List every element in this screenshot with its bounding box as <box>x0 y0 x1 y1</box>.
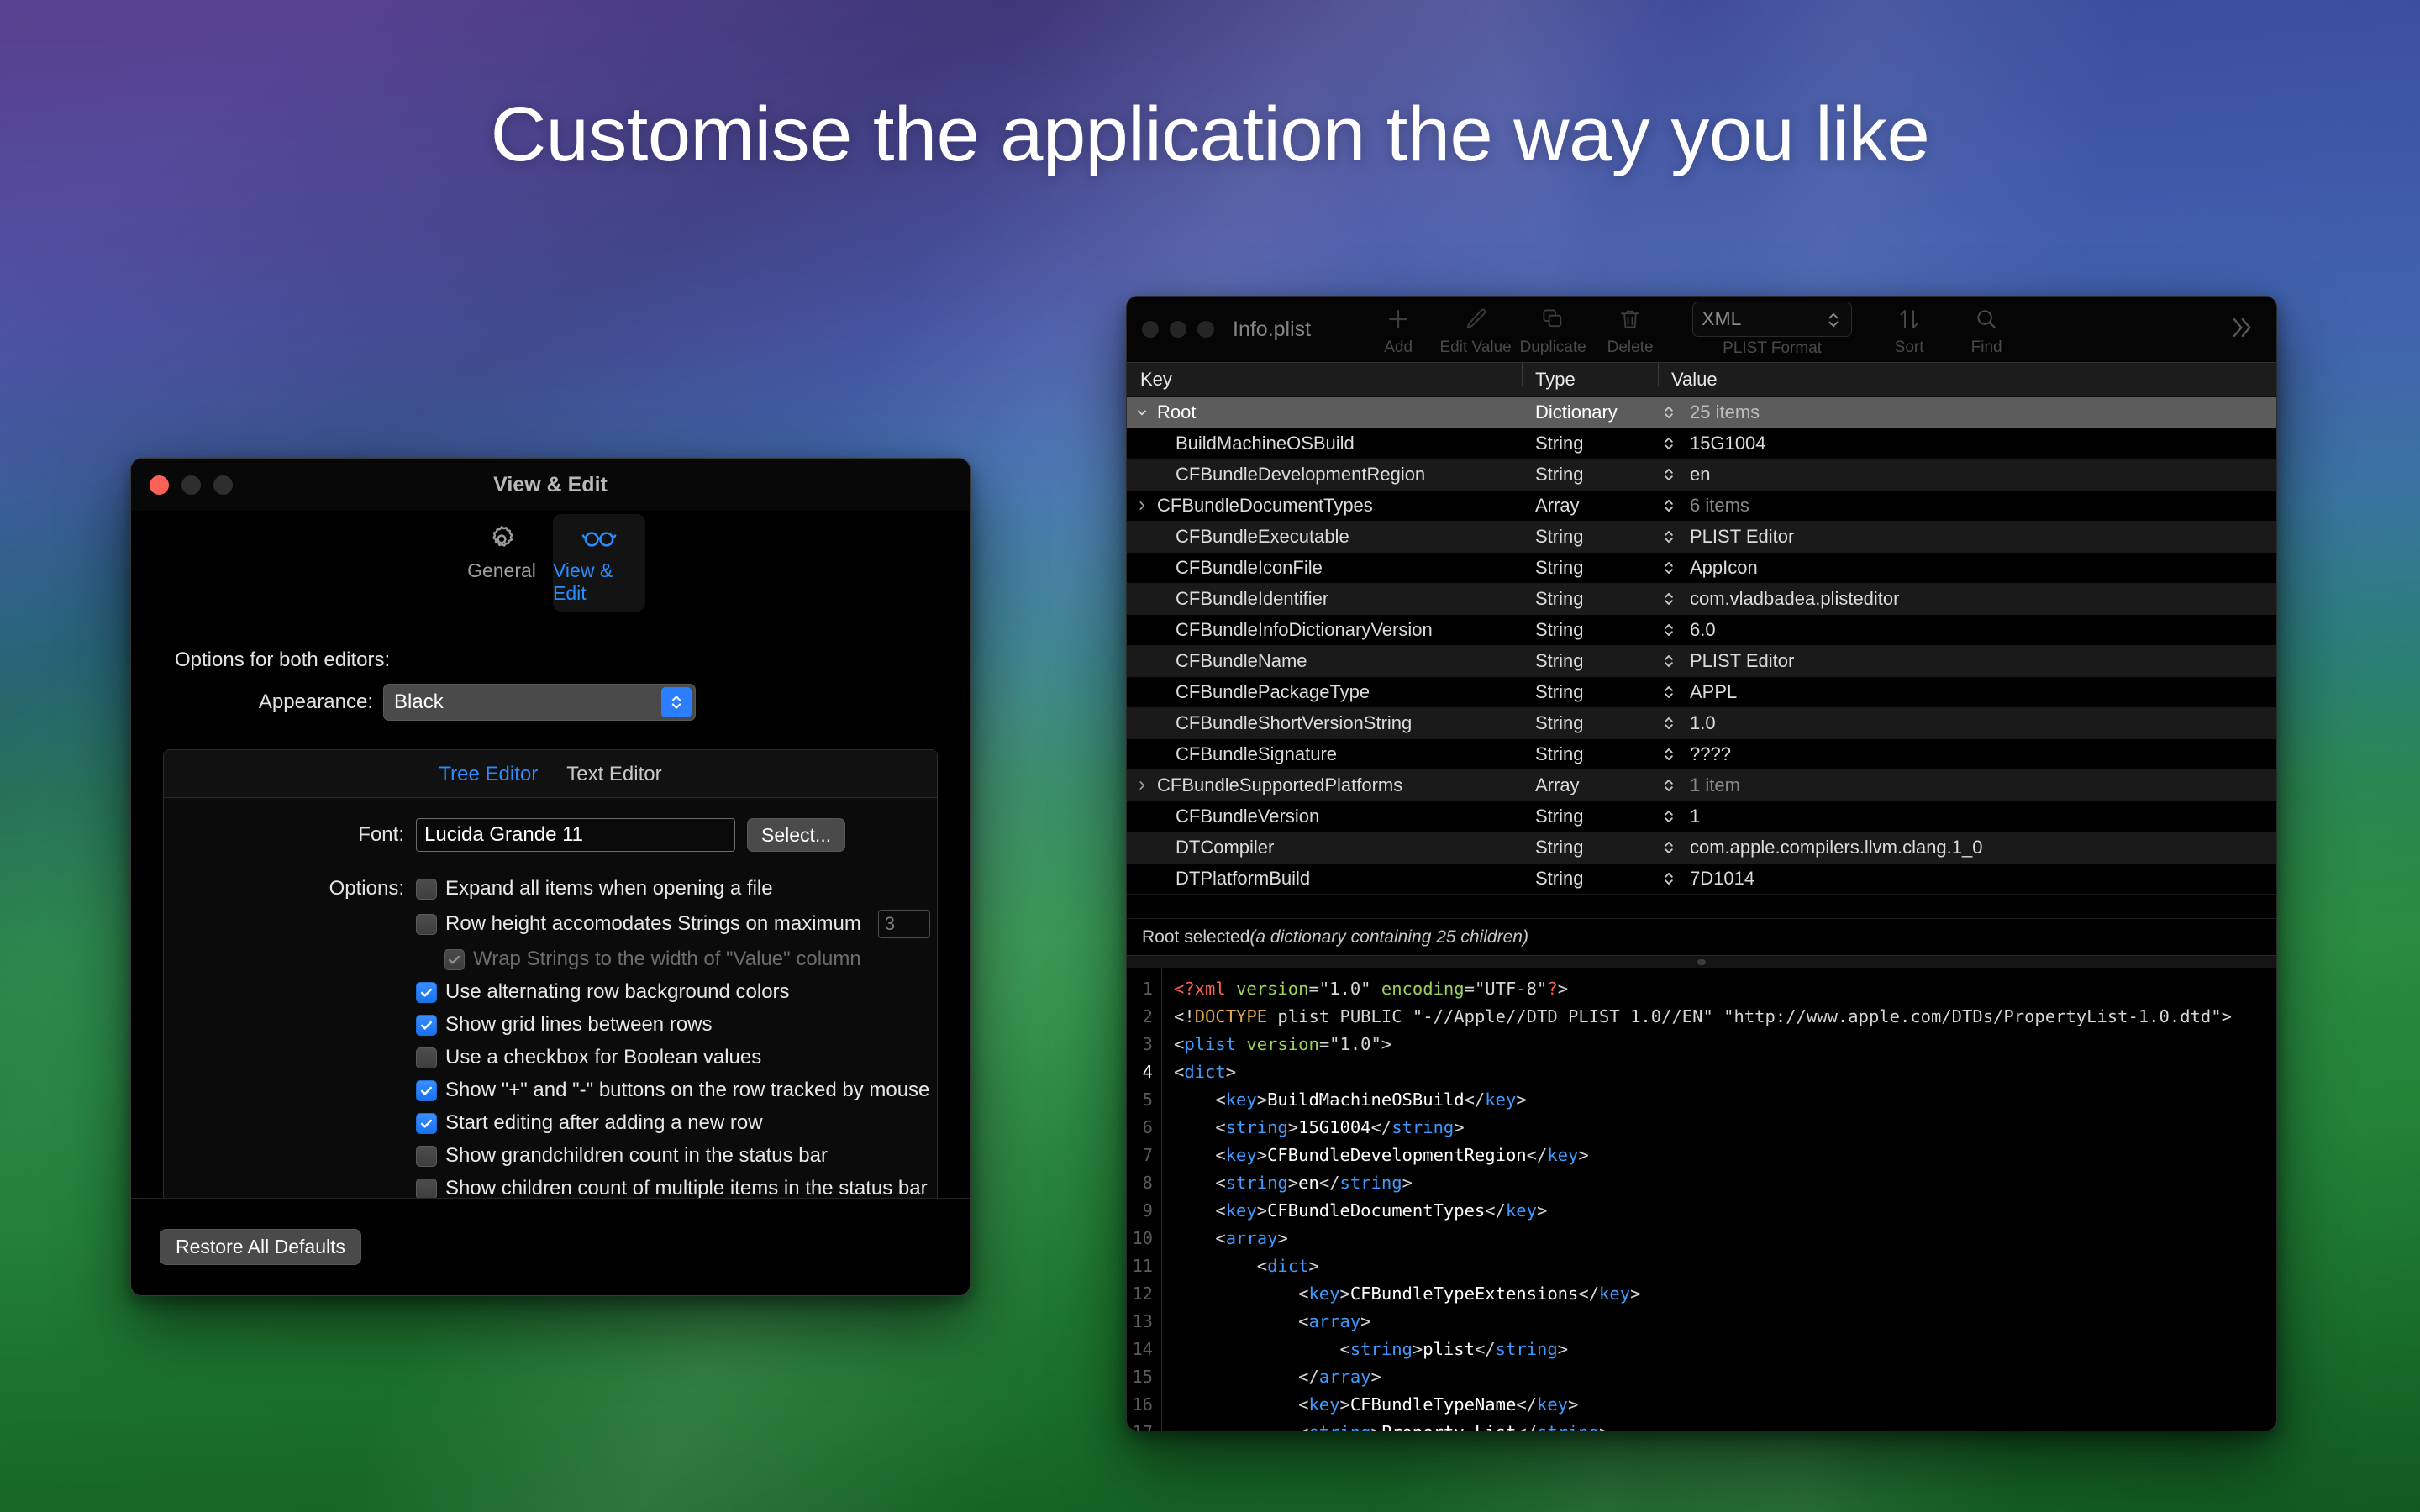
option-label: Use alternating row background colors <box>445 980 790 1004</box>
option-row: Show children count of multiple items in… <box>164 1177 937 1200</box>
options-checkbox-list: Options:Expand all items when opening a … <box>164 877 937 1200</box>
key-text: CFBundleIdentifier <box>1176 588 1328 610</box>
option-control[interactable]: Show grandchildren count in the status b… <box>416 1144 828 1168</box>
plus-icon <box>1384 302 1413 336</box>
font-field[interactable]: Lucida Grande 11 <box>416 818 735 852</box>
cell-value[interactable]: 1.0 <box>1680 712 2276 734</box>
key-text: CFBundleVersion <box>1176 806 1319 827</box>
line-number: 1 <box>1127 975 1153 1003</box>
code-token <box>1236 1034 1246 1054</box>
code-token: plist <box>1423 1339 1475 1359</box>
code-token: > <box>1558 979 1568 999</box>
line-number: 9 <box>1127 1197 1153 1225</box>
code-token: BuildMachineOSBuild <box>1267 1089 1465 1110</box>
cell-value[interactable]: APPL <box>1680 681 2276 703</box>
code-token: > <box>1516 1089 1526 1110</box>
key-text: CFBundlePackageType <box>1176 681 1370 703</box>
type-stepper-icon[interactable] <box>1658 559 1680 577</box>
max-lines-field[interactable]: 3 <box>878 910 930 938</box>
minimize-button[interactable] <box>1170 321 1186 338</box>
preferences-body: Options for both editors: Appearance: Bl… <box>131 628 970 1296</box>
column-header-key[interactable]: Key <box>1127 369 1522 391</box>
code-token <box>1174 1145 1215 1165</box>
checkbox-show-grandchildren-count-in-the-status-bar[interactable] <box>416 1146 437 1167</box>
checkbox-show-grid-lines-between-rows[interactable] <box>416 1015 437 1036</box>
option-label: Row height accomodates Strings on maximu… <box>445 912 861 936</box>
line-number: 8 <box>1127 1169 1153 1197</box>
cell-value[interactable]: 6.0 <box>1680 619 2276 641</box>
checkbox-row-height-accomodates-strings-on-maximum[interactable] <box>416 914 437 935</box>
section-title-options-both-editors: Options for both editors: <box>175 648 970 672</box>
line-number: 2 <box>1127 1003 1153 1031</box>
window-traffic-lights[interactable] <box>1142 321 1214 338</box>
search-icon <box>1974 302 1999 336</box>
code-token: string <box>1350 1339 1413 1359</box>
cell-type[interactable]: String <box>1522 526 1658 548</box>
checkbox-expand-all-items-when-opening-a-file[interactable] <box>416 879 437 900</box>
code-token: key <box>1226 1200 1257 1221</box>
code-token: "UTF-8" <box>1475 979 1547 999</box>
tab-text-editor[interactable]: Text Editor <box>566 763 661 786</box>
cell-key: DTPlatformBuild <box>1127 868 1522 890</box>
toolbar-label-add: Add <box>1384 339 1413 357</box>
cell-type[interactable]: String <box>1522 557 1658 579</box>
cell-value[interactable]: en <box>1680 464 2276 486</box>
code-token: Property List <box>1381 1422 1516 1431</box>
cell-value[interactable]: ???? <box>1680 743 2276 765</box>
code-token: < <box>1339 1339 1349 1359</box>
code-token: < <box>1298 1284 1308 1304</box>
type-stepper-icon[interactable] <box>1658 621 1680 639</box>
code-token: "1.0" <box>1329 1034 1381 1054</box>
line-number: 5 <box>1127 1086 1153 1114</box>
cell-type[interactable]: Array <box>1522 774 1658 796</box>
code-token: key <box>1599 1284 1630 1304</box>
code-token: string <box>1340 1173 1402 1193</box>
minimize-button[interactable] <box>181 475 201 495</box>
option-label: Show grid lines between rows <box>445 1013 713 1037</box>
table-row[interactable]: CFBundleShortVersionStringString1.0 <box>1127 708 2276 739</box>
key-text: BuildMachineOSBuild <box>1176 433 1355 454</box>
code-token: <?xml <box>1174 979 1226 999</box>
cell-key: BuildMachineOSBuild <box>1127 433 1522 454</box>
code-token: CFBundleTypeName <box>1350 1394 1516 1415</box>
options-label: Options: <box>164 877 416 900</box>
option-control[interactable]: Wrap Strings to the width of "Value" col… <box>444 948 861 971</box>
appearance-value: Black <box>394 690 444 714</box>
toolbar-button-delete[interactable]: Delete <box>1591 302 1669 357</box>
table-row[interactable]: BuildMachineOSBuildString15G1004 <box>1127 428 2276 459</box>
cell-type[interactable]: String <box>1522 806 1658 827</box>
xml-source-editor[interactable]: 1234567891011121314151617 <?xml version=… <box>1127 969 2276 1431</box>
appearance-select[interactable]: Black <box>383 684 696 721</box>
code-token: </ <box>1485 1200 1506 1221</box>
type-stepper-icon[interactable] <box>1658 434 1680 453</box>
desktop-wallpaper: Customise the application the way you li… <box>0 0 2420 1512</box>
column-header-type[interactable]: Type <box>1522 369 1658 391</box>
key-text: CFBundleName <box>1176 650 1307 672</box>
code-token: < <box>1215 1200 1225 1221</box>
cell-key: CFBundleDocumentTypes <box>1127 495 1522 517</box>
code-line: <string>plist</string> <box>1174 1336 2276 1363</box>
window-traffic-lights[interactable] <box>150 475 233 495</box>
type-stepper-icon[interactable] <box>1658 838 1680 857</box>
code-token: key <box>1485 1089 1516 1110</box>
code-token: < <box>1215 1089 1225 1110</box>
toolbar-button-add[interactable]: Add <box>1360 302 1437 357</box>
cell-type[interactable]: String <box>1522 464 1658 486</box>
tab-general[interactable]: General <box>455 514 548 589</box>
code-token: dict <box>1267 1256 1308 1276</box>
cell-key: CFBundleInfoDictionaryVersion <box>1127 619 1522 641</box>
cell-type[interactable]: String <box>1522 681 1658 703</box>
option-control[interactable]: Expand all items when opening a file <box>416 877 773 900</box>
line-number: 13 <box>1127 1308 1153 1336</box>
line-number: 3 <box>1127 1031 1153 1058</box>
toolbar-label-find: Find <box>1971 339 2002 357</box>
code-token: </ <box>1465 1089 1486 1110</box>
select-font-button[interactable]: Select... <box>747 818 845 852</box>
code-token: array <box>1319 1367 1371 1387</box>
table-row[interactable]: DTCompilerStringcom.apple.compilers.llvm… <box>1127 832 2276 864</box>
code-token: </ <box>1516 1422 1537 1431</box>
option-control[interactable]: Start editing after adding a new row <box>416 1111 763 1135</box>
editor-tab-bar: Tree Editor Text Editor <box>164 750 937 798</box>
cell-key: CFBundleName <box>1127 650 1522 672</box>
type-stepper-icon[interactable] <box>1658 714 1680 732</box>
type-stepper-icon[interactable] <box>1658 745 1680 764</box>
plist-format-group: XML PLIST Format <box>1692 302 1852 358</box>
code-line: <key>CFBundleDevelopmentRegion</key> <box>1174 1142 2276 1169</box>
option-control[interactable]: Show children count of multiple items in… <box>416 1177 928 1200</box>
code-token: > <box>1381 1034 1391 1054</box>
cell-type[interactable]: Array <box>1522 495 1658 517</box>
option-row: Show grid lines between rows <box>164 1013 937 1037</box>
checkbox-start-editing-after-adding-a-new-row[interactable] <box>416 1113 437 1134</box>
preferences-title: View & Edit <box>131 473 970 497</box>
cell-type[interactable]: String <box>1522 619 1658 641</box>
cell-key: CFBundleSignature <box>1127 743 1522 765</box>
maximize-button[interactable] <box>1197 321 1214 338</box>
code-line: <dict> <box>1174 1252 2276 1280</box>
code-token: < <box>1215 1117 1225 1137</box>
code-token: > <box>1288 1117 1298 1137</box>
type-stepper-icon[interactable] <box>1658 465 1680 484</box>
toolbar-button-sort[interactable]: Sort <box>1870 302 1948 357</box>
code-token: < <box>1215 1173 1225 1193</box>
code-token: string <box>1537 1422 1599 1431</box>
code-token: string <box>1308 1422 1370 1431</box>
cell-value[interactable]: AppIcon <box>1680 557 2276 579</box>
code-token: encoding <box>1381 979 1465 999</box>
table-row[interactable]: CFBundleIdentifierStringcom.vladbadea.pl… <box>1127 584 2276 615</box>
option-row: Use alternating row background colors <box>164 980 937 1004</box>
code-token: > <box>1371 1367 1381 1387</box>
option-control[interactable]: Show grid lines between rows <box>416 1013 713 1037</box>
cell-type[interactable]: String <box>1522 588 1658 610</box>
code-token: > <box>1537 1200 1547 1221</box>
chevron-down-icon[interactable] <box>1134 407 1150 418</box>
window-filename: Info.plist <box>1233 318 1311 342</box>
option-control[interactable]: Use alternating row background colors <box>416 980 790 1004</box>
code-token: array <box>1308 1311 1360 1331</box>
table-row[interactable]: CFBundleInfoDictionaryVersionString6.0 <box>1127 615 2276 646</box>
type-stepper-icon[interactable] <box>1658 590 1680 608</box>
code-token: > <box>1257 1089 1267 1110</box>
table-row[interactable]: CFBundleDevelopmentRegionStringen <box>1127 459 2276 491</box>
code-token: < <box>1298 1394 1308 1415</box>
cell-key: CFBundleVersion <box>1127 806 1522 827</box>
cell-key: CFBundleIdentifier <box>1127 588 1522 610</box>
type-stepper-icon[interactable] <box>1658 528 1680 546</box>
line-number: 4 <box>1127 1058 1153 1086</box>
code-token: < <box>1215 1228 1225 1248</box>
type-stepper-icon[interactable] <box>1658 683 1680 701</box>
toolbar-label-delete: Delete <box>1607 339 1654 357</box>
code-token <box>1226 979 1236 999</box>
cell-value[interactable]: com.vladbadea.plisteditor <box>1680 588 2276 610</box>
checkbox-use-a-checkbox-for-boolean-values[interactable] <box>416 1047 437 1068</box>
code-token: ? <box>1547 979 1557 999</box>
font-row: Font: Lucida Grande 11 Select... <box>164 818 937 852</box>
table-row[interactable]: DTPlatformBuildString7D1014 <box>1127 864 2276 895</box>
code-token: = <box>1319 1034 1329 1054</box>
table-row[interactable]: CFBundleSignatureString???? <box>1127 739 2276 770</box>
maximize-button[interactable] <box>213 475 233 495</box>
tab-tree-editor[interactable]: Tree Editor <box>439 763 538 786</box>
code-token: CFBundleDevelopmentRegion <box>1267 1145 1527 1165</box>
splitter-grip[interactable] <box>1697 959 1706 965</box>
code-line: <?xml version="1.0" encoding="UTF-8"?> <box>1174 975 2276 1003</box>
status-detail: (a dictionary containing 25 children) <box>1249 927 1528 948</box>
trash-icon <box>1618 302 1643 336</box>
cell-type[interactable]: String <box>1522 650 1658 672</box>
option-row: Wrap Strings to the width of "Value" col… <box>164 948 937 971</box>
code-token: > <box>1402 1173 1413 1193</box>
checkbox-use-alternating-row-background-colors[interactable] <box>416 982 437 1003</box>
code-token <box>1174 1089 1215 1110</box>
cell-type[interactable]: String <box>1522 837 1658 858</box>
cell-type[interactable]: String <box>1522 743 1658 765</box>
code-token: > <box>1288 1173 1298 1193</box>
line-number: 17 <box>1127 1419 1153 1431</box>
line-number: 11 <box>1127 1252 1153 1280</box>
code-token: key <box>1226 1145 1257 1165</box>
code-token <box>1174 1394 1298 1415</box>
close-button[interactable] <box>150 475 169 495</box>
pane-splitter[interactable] <box>1127 955 2276 969</box>
table-row[interactable]: CFBundleIconFileStringAppIcon <box>1127 553 2276 584</box>
checkbox-wrap-strings-to-the-width-of-value-column[interactable] <box>444 949 465 970</box>
key-text: Root <box>1157 402 1196 423</box>
chevron-right-icon[interactable] <box>1134 500 1150 512</box>
code-token <box>1174 1228 1215 1248</box>
code-token <box>1174 1117 1215 1137</box>
code-line: </array> <box>1174 1363 2276 1391</box>
code-token <box>1174 1367 1298 1387</box>
code-token: key <box>1547 1145 1578 1165</box>
chevron-right-icon[interactable] <box>1134 780 1150 791</box>
option-control[interactable]: Show "+" and "-" buttons on the row trac… <box>416 1079 929 1102</box>
table-row[interactable]: CFBundleDocumentTypesArray6 items <box>1127 491 2276 522</box>
toolbar-button-edit-value[interactable]: Edit Value <box>1437 302 1514 357</box>
code-token: < <box>1174 1062 1184 1082</box>
table-row[interactable]: CFBundleSupportedPlatformsArray1 item <box>1127 770 2276 801</box>
toolbar-button-find[interactable]: Find <box>1948 302 2025 357</box>
code-token: </ <box>1319 1173 1340 1193</box>
code-token: </ <box>1475 1339 1496 1359</box>
code-token: string <box>1226 1173 1288 1193</box>
option-label: Use a checkbox for Boolean values <box>445 1046 761 1069</box>
code-token: "http://www.apple.com/DTDs/PropertyList-… <box>1723 1006 2221 1026</box>
glasses-icon <box>581 522 618 556</box>
option-row: Start editing after adding a new row <box>164 1111 937 1135</box>
code-token: key <box>1308 1394 1339 1415</box>
code-token: </ <box>1527 1145 1548 1165</box>
code-token: key <box>1226 1089 1257 1110</box>
close-button[interactable] <box>1142 321 1159 338</box>
code-line: <key>CFBundleTypeName</key> <box>1174 1391 2276 1419</box>
code-token: > <box>1454 1117 1464 1137</box>
code-token: > <box>1277 1228 1287 1248</box>
chevron-double-right-icon[interactable] <box>2226 313 2254 346</box>
code-token: key <box>1506 1200 1537 1221</box>
code-line: <key>CFBundleDocumentTypes</key> <box>1174 1197 2276 1225</box>
cell-value[interactable]: 25 items <box>1680 402 2276 423</box>
key-text: CFBundleDevelopmentRegion <box>1176 464 1425 486</box>
code-token <box>1371 979 1381 999</box>
plist-table[interactable]: RootDictionary25 itemsBuildMachineOSBuil… <box>1127 397 2276 918</box>
option-label: Show "+" and "-" buttons on the row trac… <box>445 1079 929 1102</box>
cell-type[interactable]: String <box>1522 712 1658 734</box>
checkbox-show-children-count-of-multiple-items-in-the-s[interactable] <box>416 1179 437 1200</box>
checkbox-show-and-buttons-on-the-row-tracked-by-mouse[interactable] <box>416 1080 437 1101</box>
cell-value[interactable]: com.apple.compilers.llvm.clang.1_0 <box>1680 837 2276 858</box>
cell-key: CFBundleSupportedPlatforms <box>1127 774 1522 796</box>
plist-toolbar: Info.plist Add Edit Value <box>1127 297 2276 362</box>
code-line: <!DOCTYPE plist PUBLIC "-//Apple//DTD PL… <box>1174 1003 2276 1031</box>
table-row[interactable]: CFBundleVersionString1 <box>1127 801 2276 832</box>
code-token: "-//Apple//DTD PLIST 1.0//EN" <box>1413 1006 1713 1026</box>
type-stepper-icon[interactable] <box>1658 807 1680 826</box>
pencil-icon <box>1463 302 1488 336</box>
code-token: > <box>1257 1200 1267 1221</box>
option-control[interactable]: Row height accomodates Strings on maximu… <box>416 910 938 938</box>
option-row: Show grandchildren count in the status b… <box>164 1144 937 1168</box>
code-lines[interactable]: <?xml version="1.0" encoding="UTF-8"?><!… <box>1162 969 2276 1431</box>
code-token <box>1174 1173 1215 1193</box>
cell-value[interactable]: 1 item <box>1680 774 2276 796</box>
code-line: <array> <box>1174 1225 2276 1252</box>
preferences-titlebar: View & Edit <box>131 459 970 511</box>
cell-value[interactable]: PLIST Editor <box>1680 650 2276 672</box>
code-token: dict <box>1184 1062 1225 1082</box>
tab-label-view-and-edit: View & Edit <box>553 559 645 605</box>
table-row[interactable]: CFBundleExecutableStringPLIST Editor <box>1127 522 2276 553</box>
line-number-gutter: 1234567891011121314151617 <box>1127 969 1162 1431</box>
code-line: <string>15G1004</string> <box>1174 1114 2276 1142</box>
cell-key: CFBundleShortVersionString <box>1127 712 1522 734</box>
cell-value[interactable]: 7D1014 <box>1680 868 2276 890</box>
code-token: < <box>1215 1145 1225 1165</box>
code-token: > <box>1558 1339 1568 1359</box>
line-number: 7 <box>1127 1142 1153 1169</box>
toolbar-label-duplicate: Duplicate <box>1520 339 1586 357</box>
code-token: < <box>1298 1422 1308 1431</box>
type-stepper-icon[interactable] <box>1658 496 1680 515</box>
tab-view-and-edit[interactable]: View & Edit <box>553 514 645 612</box>
code-token: > <box>1413 1339 1423 1359</box>
code-token <box>1174 1256 1257 1276</box>
type-stepper-icon[interactable] <box>1658 776 1680 795</box>
table-row[interactable]: RootDictionary25 items <box>1127 397 2276 428</box>
cell-type[interactable]: String <box>1522 868 1658 890</box>
appearance-label: Appearance: <box>175 690 383 714</box>
code-token: < <box>1174 1034 1184 1054</box>
code-token: version <box>1246 1034 1318 1054</box>
type-stepper-icon[interactable] <box>1658 869 1680 888</box>
type-stepper-icon[interactable] <box>1658 403 1680 422</box>
key-text: CFBundleIconFile <box>1176 557 1323 579</box>
key-text: CFBundleInfoDictionaryVersion <box>1176 619 1433 641</box>
code-line: <key>BuildMachineOSBuild</key> <box>1174 1086 2276 1114</box>
table-row[interactable]: CFBundleNameStringPLIST Editor <box>1127 646 2276 677</box>
cell-type[interactable]: String <box>1522 433 1658 454</box>
chevron-updown-icon <box>661 687 692 717</box>
toolbar-button-duplicate[interactable]: Duplicate <box>1514 302 1591 357</box>
code-line: <dict> <box>1174 1058 2276 1086</box>
table-row[interactable]: CFBundlePackageTypeStringAPPL <box>1127 677 2276 708</box>
option-label: Wrap Strings to the width of "Value" col… <box>473 948 861 971</box>
cell-value[interactable]: 15G1004 <box>1680 433 2276 454</box>
status-bar: Root selected (a dictionary containing 2… <box>1127 918 2276 955</box>
key-text: DTPlatformBuild <box>1176 868 1310 890</box>
cell-value[interactable]: 1 <box>1680 806 2276 827</box>
code-token: </ <box>1516 1394 1537 1415</box>
plist-editor-window: Info.plist Add Edit Value <box>1126 296 2277 1431</box>
gear-icon <box>485 522 518 556</box>
preferences-footer: Restore All Defaults <box>131 1198 970 1295</box>
table-column-headers: Key Type Value <box>1127 362 2276 397</box>
code-token: </ <box>1578 1284 1599 1304</box>
code-token: </ <box>1371 1117 1392 1137</box>
chevron-updown-icon <box>1826 309 1841 336</box>
plist-format-select[interactable]: XML <box>1692 302 1852 337</box>
cell-type[interactable]: Dictionary <box>1522 402 1658 423</box>
cell-value[interactable]: 6 items <box>1680 495 2276 517</box>
type-stepper-icon[interactable] <box>1658 652 1680 670</box>
status-prefix: Root selected <box>1142 927 1249 948</box>
option-label: Expand all items when opening a file <box>445 877 773 900</box>
cell-key: CFBundleExecutable <box>1127 526 1522 548</box>
option-label: Show grandchildren count in the status b… <box>445 1144 828 1168</box>
key-text: CFBundleShortVersionString <box>1176 712 1412 734</box>
code-token: version <box>1236 979 1308 999</box>
restore-all-defaults-button[interactable]: Restore All Defaults <box>160 1229 361 1265</box>
appearance-row: Appearance: Black <box>131 684 970 721</box>
plist-format-value: XML <box>1702 307 1741 330</box>
code-line: <array> <box>1174 1308 2276 1336</box>
column-header-value[interactable]: Value <box>1658 369 2276 391</box>
line-number: 15 <box>1127 1363 1153 1391</box>
key-text: CFBundleExecutable <box>1176 526 1349 548</box>
cell-value[interactable]: PLIST Editor <box>1680 526 2276 548</box>
code-token: <! <box>1174 1006 1195 1026</box>
code-token: string <box>1391 1117 1454 1137</box>
toolbar-actions: Add Edit Value Duplicate <box>1360 302 1669 357</box>
option-control[interactable]: Use a checkbox for Boolean values <box>416 1046 761 1069</box>
option-row: Row height accomodates Strings on maximu… <box>164 910 937 938</box>
